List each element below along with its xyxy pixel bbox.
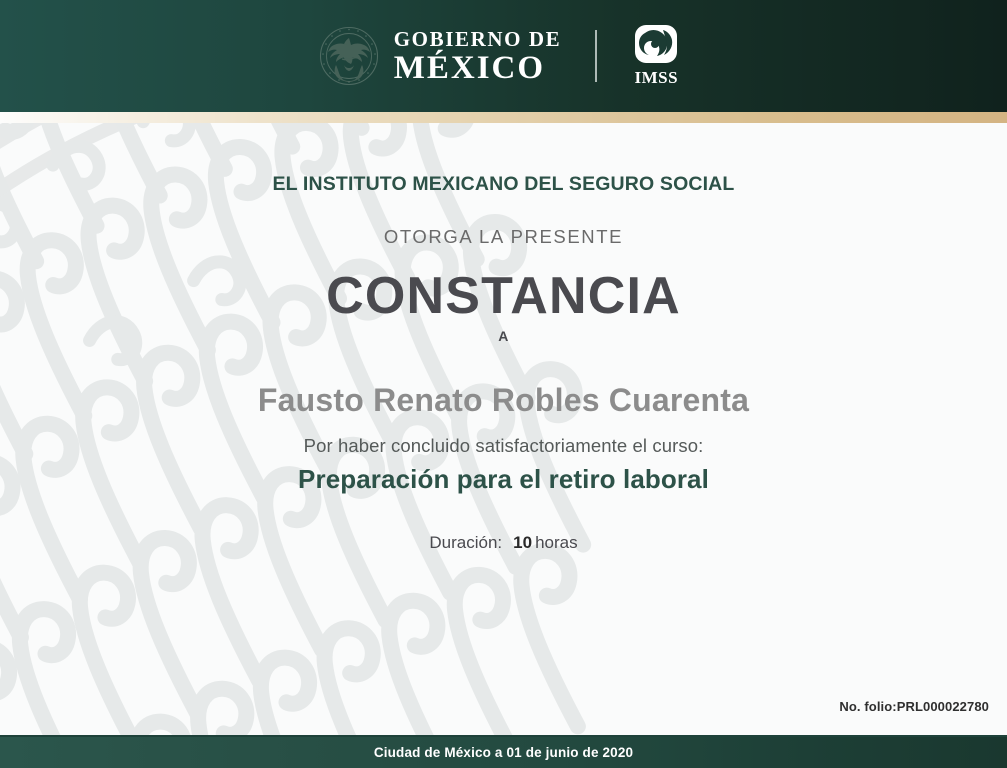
duration-row: Duración:10horas: [0, 533, 1007, 553]
completion-statement: Por haber concluido satisfactoriamente e…: [0, 435, 1007, 457]
page-title: CONSTANCIA: [0, 266, 1007, 326]
gobierno-line2: MÉXICO: [394, 51, 562, 85]
gobierno-line1: GOBIERNO DE: [394, 27, 562, 51]
course-title: Preparación para el retiro laboral: [0, 464, 1007, 495]
preposition-a: A: [0, 328, 1007, 344]
certificate-text-block: EL INSTITUTO MEXICANO DEL SEGURO SOCIAL …: [0, 123, 1007, 735]
recipient-name: Fausto Renato Robles Cuarenta: [0, 382, 1007, 419]
page-header: GOBIERNO DE MÉXICO IMSS: [0, 0, 1007, 112]
gold-accent-stripe: [0, 112, 1007, 123]
imss-logo: IMSS: [627, 24, 685, 88]
duration-value: 10: [513, 533, 532, 552]
header-divider: [595, 30, 597, 82]
duration-unit: horas: [535, 533, 578, 552]
imss-label: IMSS: [634, 68, 678, 88]
folio-number: No. folio:PRL000022780: [839, 699, 989, 714]
otorga-label: OTORGA LA PRESENTE: [0, 226, 1007, 248]
certificate-page: GOBIERNO DE MÉXICO IMSS: [0, 0, 1007, 768]
issuing-organization: EL INSTITUTO MEXICANO DEL SEGURO SOCIAL: [0, 173, 1007, 196]
header-logos: GOBIERNO DE MÉXICO IMSS: [318, 24, 686, 88]
certificate-body: EL INSTITUTO MEXICANO DEL SEGURO SOCIAL …: [0, 123, 1007, 735]
coat-of-arms-icon: [318, 25, 380, 87]
gobierno-wordmark: GOBIERNO DE MÉXICO: [394, 27, 562, 85]
page-footer: Ciudad de México a 01 de junio de 2020: [0, 735, 1007, 768]
place-and-date: Ciudad de México a 01 de junio de 2020: [374, 745, 633, 760]
duration-label: Duración:: [429, 533, 502, 552]
imss-eagle-icon: [633, 24, 679, 66]
